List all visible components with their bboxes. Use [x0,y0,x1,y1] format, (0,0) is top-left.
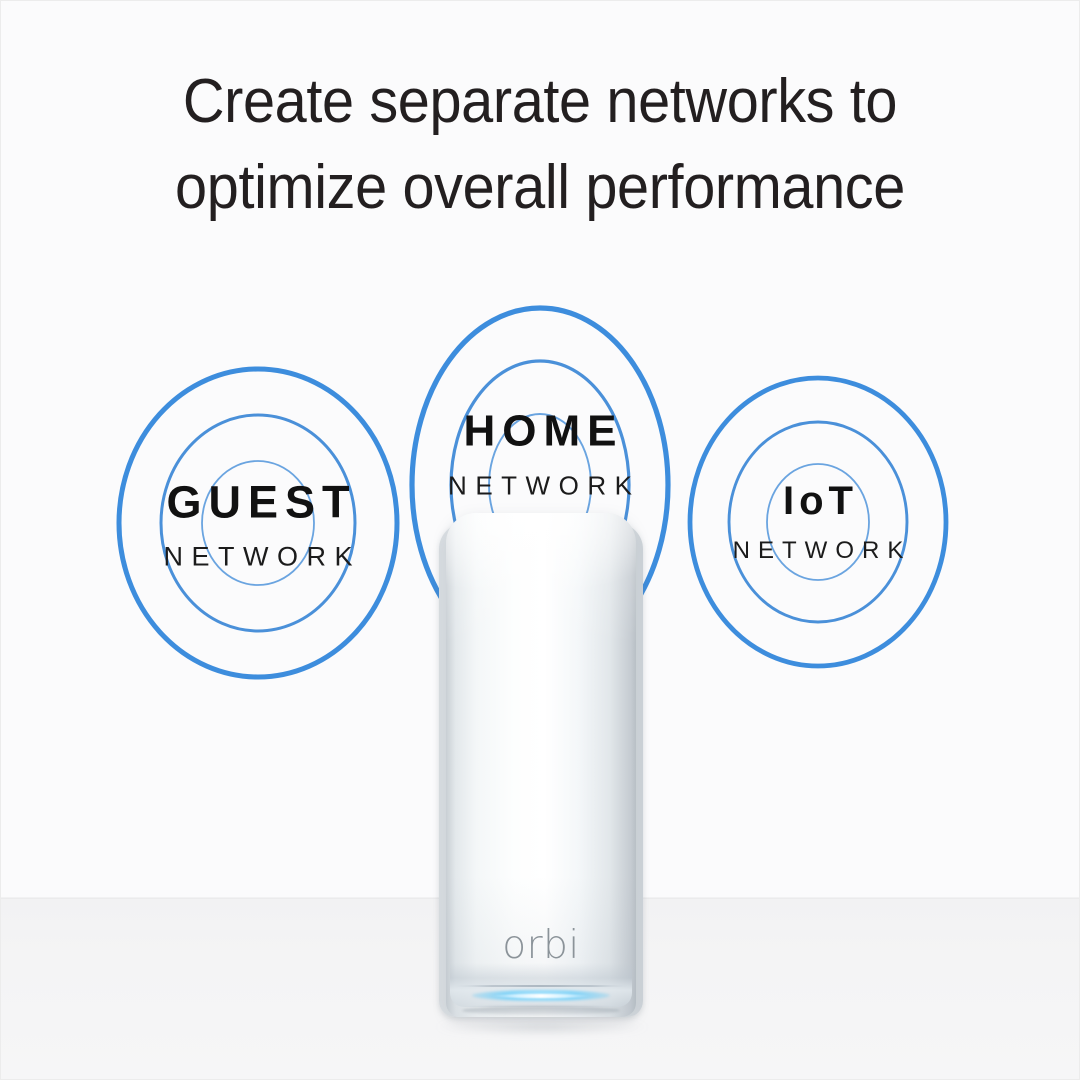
marketing-image-canvas: Create separate networks to optimize ove… [0,0,1080,1080]
network-label-home-primary: HOME [440,410,641,454]
router-base-edge-line [454,985,628,987]
router-front-body: orbi [446,513,636,1017]
network-label-iot-primary: IoT [725,481,912,521]
network-label-home: HOME NETWORK [440,410,641,499]
orbi-wordmark: orbi [446,926,636,965]
network-label-iot: IoT NETWORK [725,481,912,563]
network-label-guest: GUEST NETWORK [155,480,361,571]
network-label-guest-primary: GUEST [155,480,361,525]
network-label-iot-secondary: NETWORK [725,539,912,563]
router-foot-shadow [462,1006,620,1015]
network-label-home-secondary: NETWORK [440,473,641,499]
network-label-guest-secondary: NETWORK [155,544,361,571]
router-led-core [492,994,590,998]
orbi-router-device: orbi [435,509,647,1025]
